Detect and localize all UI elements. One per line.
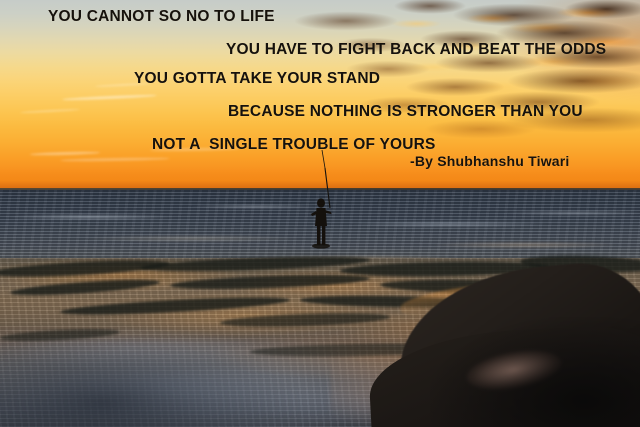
quote-attribution: -By Shubhanshu Tiwari <box>410 153 570 169</box>
quote-line-2: YOU HAVE TO FIGHT BACK AND BEAT THE ODDS <box>226 41 606 59</box>
foreground-shadow-corner <box>430 317 640 427</box>
quote-poster: YOU CANNOT SO NO TO LIFE YOU HAVE TO FIG… <box>0 0 640 427</box>
quote-line-1: YOU CANNOT SO NO TO LIFE <box>48 8 275 26</box>
foreground-shadow-left <box>0 337 300 427</box>
quote-line-5: NOT A SINGLE TROUBLE OF YOURS <box>152 136 436 154</box>
quote-line-4: BECAUSE NOTHING IS STRONGER THAN YOU <box>228 103 583 121</box>
quote-overlay: YOU CANNOT SO NO TO LIFE YOU HAVE TO FIG… <box>0 0 640 190</box>
quote-line-3: YOU GOTTA TAKE YOUR STAND <box>134 70 380 88</box>
